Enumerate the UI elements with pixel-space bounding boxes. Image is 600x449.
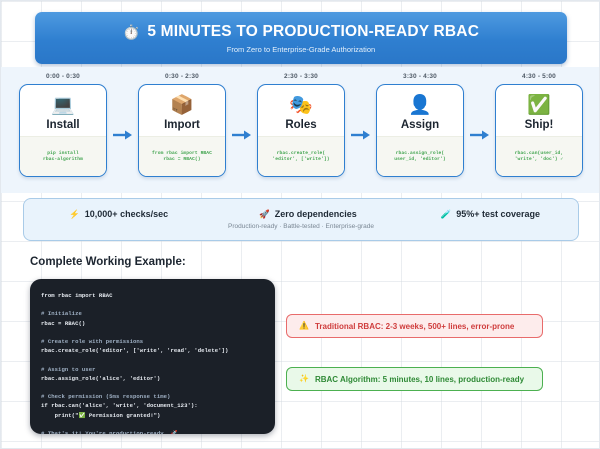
- laptop-icon: 💻: [51, 96, 75, 115]
- stat-checks-per-sec: ⚡ 10,000+ checks/sec: [24, 209, 213, 219]
- step-label: Ship!: [525, 119, 554, 131]
- green-check-icon: ✅: [527, 96, 551, 115]
- stats-bar: ⚡ 10,000+ checks/sec 🚀 Zero dependencies…: [23, 198, 579, 241]
- infographic-page: ⏱️ 5 MINUTES TO PRODUCTION-READY RBAC Fr…: [0, 0, 600, 449]
- step-code-snippet: rbac.assign_role( user_id, 'editor'): [377, 136, 463, 176]
- step-label: Assign: [401, 119, 439, 131]
- code-line: [41, 383, 264, 392]
- package-icon: 📦: [170, 96, 194, 115]
- code-line: [41, 355, 264, 364]
- code-line: [41, 300, 264, 309]
- code-line: # Check permission (5ms response time): [41, 392, 264, 401]
- code-line: # That's it! You're production-ready. 🚀: [41, 429, 264, 434]
- step-code-line: rbac.assign_role(: [396, 151, 445, 156]
- step-code-snippet: pip install rbac-algorithm: [20, 136, 106, 176]
- step-time-label: 0:00 - 0:30: [46, 73, 80, 80]
- code-line: rbac.assign_role('alice', 'editor'): [41, 374, 264, 383]
- stat-label: 10,000+ checks/sec: [85, 209, 168, 219]
- step-time-label: 0:30 - 2:30: [165, 73, 199, 80]
- page-title: 5 MINUTES TO PRODUCTION-READY RBAC: [147, 23, 479, 41]
- arrow-right-icon: [469, 88, 491, 181]
- warning-icon: ⚠️: [299, 322, 309, 330]
- step-time-label: 4:30 - 5:00: [522, 73, 556, 80]
- code-block[interactable]: from rbac import RBAC # Initialize rbac …: [30, 279, 275, 434]
- step-code-line: 'write', 'doc') ✓: [515, 157, 564, 162]
- stopwatch-icon: ⏱️: [123, 25, 140, 39]
- step-label: Import: [164, 119, 200, 131]
- theater-masks-icon: 🎭: [289, 96, 313, 115]
- step-code-line: rbac-algorithm: [43, 157, 83, 162]
- step-code-line: user_id, 'editor'): [394, 157, 445, 162]
- step-time-label: 3:30 - 4:30: [403, 73, 437, 80]
- arrow-right-icon: [112, 88, 134, 181]
- step-code-snippet: from rbac import RBAC rbac = RBAC(): [139, 136, 225, 176]
- step-label: Roles: [285, 119, 316, 131]
- step-label: Install: [46, 119, 79, 131]
- stat-zero-dependencies: 🚀 Zero dependencies: [213, 209, 402, 219]
- header-banner: ⏱️ 5 MINUTES TO PRODUCTION-READY RBAC Fr…: [35, 12, 567, 64]
- step-card[interactable]: 📦 Import from rbac import RBAC rbac = RB…: [138, 84, 226, 177]
- stat-label: Zero dependencies: [275, 209, 357, 219]
- header-title-row: ⏱️ 5 MINUTES TO PRODUCTION-READY RBAC: [123, 23, 479, 41]
- arrow-right-icon: [350, 88, 372, 181]
- code-line: # Initialize: [41, 309, 264, 318]
- callout-rbac-algorithm: ✨ RBAC Algorithm: 5 minutes, 10 lines, p…: [286, 367, 543, 391]
- step-card[interactable]: 👤 Assign rbac.assign_role( user_id, 'edi…: [376, 84, 464, 177]
- step-card[interactable]: 💻 Install pip install rbac-algorithm: [19, 84, 107, 177]
- step-code-line: 'editor', ['write']): [272, 157, 329, 162]
- step-code-snippet: rbac.create_role( 'editor', ['write']): [258, 136, 344, 176]
- step-card[interactable]: ✅ Ship! rbac.can(user_id, 'write', 'doc'…: [495, 84, 583, 177]
- step-code-line: rbac.can(user_id,: [515, 151, 564, 156]
- step-code-line: rbac = RBAC(): [163, 157, 200, 162]
- user-silhouette-icon: 👤: [408, 96, 432, 115]
- page-subtitle: From Zero to Enterprise-Grade Authorizat…: [227, 45, 375, 54]
- callout-traditional-rbac: ⚠️ Traditional RBAC: 2-3 weeks, 500+ lin…: [286, 314, 543, 338]
- stats-tagline: Production-ready · Battle-tested · Enter…: [228, 223, 374, 230]
- code-line: rbac.create_role('editor', ['write', 're…: [41, 346, 264, 355]
- step-code-line: from rbac import RBAC: [152, 151, 212, 156]
- callout-text: Traditional RBAC: 2-3 weeks, 500+ lines,…: [315, 322, 514, 331]
- code-line: rbac = RBAC(): [41, 319, 264, 328]
- rocket-icon: 🚀: [259, 210, 270, 219]
- code-line: [41, 420, 264, 429]
- timeline-step-ship: 4:30 - 5:00 ✅ Ship! rbac.can(user_id, 'w…: [494, 73, 584, 177]
- sparkles-icon: ✨: [299, 375, 309, 383]
- timeline-step-roles: 2:30 - 3:30 🎭 Roles rbac.create_role( 'e…: [256, 73, 346, 177]
- step-code-snippet: rbac.can(user_id, 'write', 'doc') ✓: [496, 136, 582, 176]
- lightning-icon: ⚡: [69, 210, 80, 219]
- step-code-line: rbac.create_role(: [277, 151, 326, 156]
- example-heading: Complete Working Example:: [30, 256, 186, 268]
- callout-text: RBAC Algorithm: 5 minutes, 10 lines, pro…: [315, 375, 524, 384]
- step-code-line: pip install: [47, 151, 78, 156]
- stats-row: ⚡ 10,000+ checks/sec 🚀 Zero dependencies…: [24, 209, 578, 219]
- code-line: # Create role with permissions: [41, 337, 264, 346]
- code-line: [41, 328, 264, 337]
- timeline-step-assign: 3:30 - 4:30 👤 Assign rbac.assign_role( u…: [375, 73, 465, 177]
- step-card[interactable]: 🎭 Roles rbac.create_role( 'editor', ['wr…: [257, 84, 345, 177]
- stat-label: 95%+ test coverage: [456, 209, 540, 219]
- code-line: # Assign to user: [41, 365, 264, 374]
- code-line: print("✅ Permission granted!"): [41, 411, 264, 420]
- stat-test-coverage: 🧪 95%+ test coverage: [403, 209, 578, 219]
- timeline-step-import: 0:30 - 2:30 📦 Import from rbac import RB…: [137, 73, 227, 177]
- code-line: from rbac import RBAC: [41, 291, 264, 300]
- step-time-label: 2:30 - 3:30: [284, 73, 318, 80]
- test-tube-icon: 🧪: [441, 210, 452, 219]
- timeline-steps: 0:00 - 0:30 💻 Install pip install rbac-a…: [18, 73, 584, 189]
- arrow-right-icon: [231, 88, 253, 181]
- code-line: if rbac.can('alice', 'write', 'document_…: [41, 401, 264, 410]
- timeline-step-install: 0:00 - 0:30 💻 Install pip install rbac-a…: [18, 73, 108, 177]
